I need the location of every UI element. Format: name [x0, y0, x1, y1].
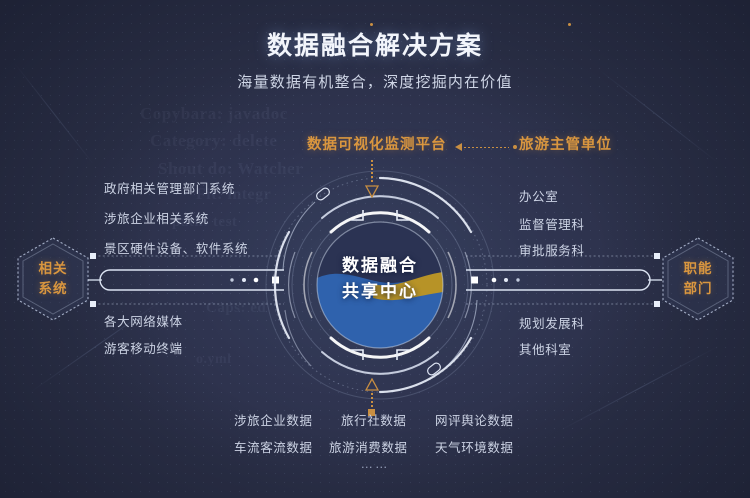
- right-item[interactable]: 其他科室: [519, 339, 571, 358]
- left-item[interactable]: 游客移动终端: [104, 338, 183, 357]
- bottom-item[interactable]: 旅行社数据: [341, 410, 407, 429]
- center-hub: 数据融合 共享中心: [255, 160, 505, 410]
- bottom-item[interactable]: 天气环境数据: [435, 437, 514, 456]
- left-item[interactable]: 各大网络媒体: [104, 311, 183, 330]
- left-item[interactable]: 景区硬件设备、软件系统: [104, 238, 248, 257]
- right-item[interactable]: 审批服务科: [519, 240, 585, 259]
- hexagon-left-line1: 相关: [39, 259, 68, 279]
- connector-dot: [370, 23, 373, 26]
- bottom-item[interactable]: 网评舆论数据: [435, 410, 514, 429]
- arrow-dashed-line: [464, 147, 509, 148]
- center-text: 数据融合 共享中心: [255, 253, 505, 304]
- hexagon-left-line2: 系统: [39, 279, 68, 299]
- left-item[interactable]: 政府相关管理部门系统: [104, 178, 235, 197]
- marker-top: [364, 160, 380, 204]
- connector-dot: [568, 23, 571, 26]
- arrow-head-icon: [455, 143, 462, 151]
- label-tourism-authority[interactable]: 旅游主管单位: [519, 133, 612, 154]
- hexagon-left-text: 相关 系统: [14, 235, 92, 323]
- right-item[interactable]: 监督管理科: [519, 214, 585, 233]
- bottom-item[interactable]: 车流客流数据: [234, 437, 313, 456]
- marker-top-dotted-line: [371, 160, 373, 184]
- center-line-1: 数据融合: [255, 253, 505, 279]
- hexagon-right-line2: 部门: [684, 279, 713, 299]
- hexagon-functional-departments[interactable]: 职能 部门: [659, 235, 737, 323]
- triangle-up-icon: [365, 378, 379, 391]
- right-item[interactable]: 办公室: [519, 186, 558, 205]
- dashed-arrow-icon: [455, 143, 517, 152]
- left-item[interactable]: 涉旅企业相关系统: [104, 208, 209, 227]
- top-label-row: 数据可视化监测平台 旅游主管单位: [0, 133, 750, 155]
- label-visualization-platform[interactable]: 数据可视化监测平台: [307, 133, 447, 154]
- marker-bottom-dotted-line: [371, 393, 373, 409]
- arrow-tail-dot: [513, 145, 517, 149]
- right-item[interactable]: 规划发展科: [519, 313, 585, 332]
- center-line-2: 共享中心: [255, 279, 505, 305]
- hexagon-right-text: 职能 部门: [659, 235, 737, 323]
- bottom-ellipsis: ……: [0, 457, 750, 471]
- bottom-item[interactable]: 涉旅企业数据: [234, 410, 313, 429]
- bottom-item[interactable]: 旅游消费数据: [329, 437, 408, 456]
- page-subtitle: 海量数据有机整合，深度挖掘内在价值: [0, 71, 750, 92]
- triangle-down-icon: [365, 185, 379, 198]
- hexagon-related-systems[interactable]: 相关 系统: [14, 235, 92, 323]
- infographic-canvas: Copybara: javadoc Category: delete Shout…: [0, 0, 750, 498]
- hexagon-right-line1: 职能: [684, 259, 713, 279]
- page-title: 数据融合解决方案: [0, 26, 750, 62]
